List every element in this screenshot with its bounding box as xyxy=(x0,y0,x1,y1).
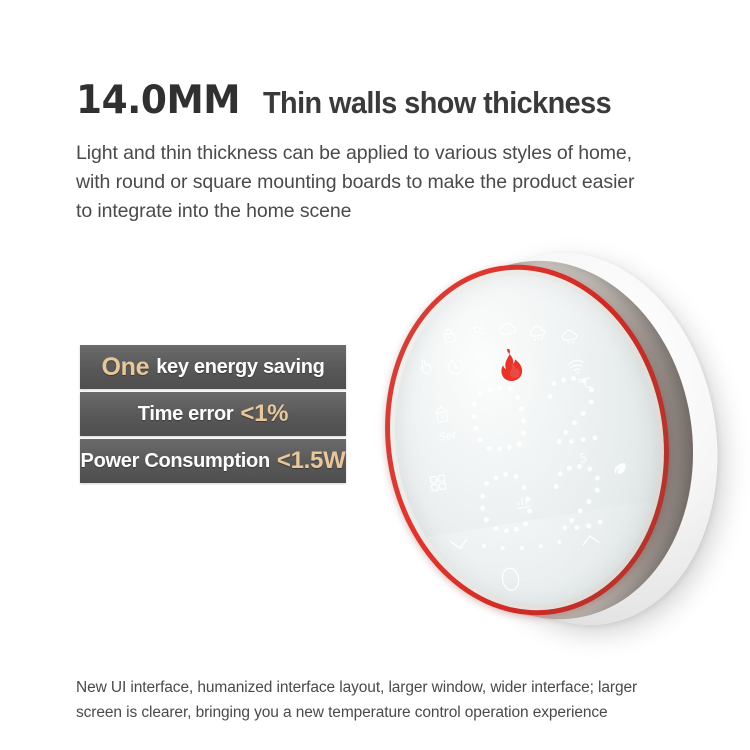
house-icon xyxy=(431,403,452,426)
arc-dot xyxy=(557,540,562,545)
hand-touch-icon xyxy=(417,356,435,376)
badge-accent-text: <1% xyxy=(240,400,288,428)
badge-accent-text: One xyxy=(101,353,149,382)
chevron-down-icon[interactable] xyxy=(449,536,471,552)
header-block: 14.0MM Thin walls show thickness Light a… xyxy=(76,78,676,226)
cloud-rain-icon xyxy=(527,324,548,344)
feature-badge-list: One key energy saving Time error <1% Pow… xyxy=(80,345,346,483)
power-button[interactable] xyxy=(498,565,524,594)
headline-tagline: Thin walls show thickness xyxy=(263,85,611,121)
headline-measure: 14.0MM xyxy=(76,78,240,123)
wifi-icon xyxy=(566,358,587,376)
clock-icon xyxy=(445,357,464,376)
sun-icon xyxy=(467,319,488,340)
cloud-snow-icon xyxy=(559,328,580,348)
temperature-unit: °C xyxy=(575,375,592,393)
headline: 14.0MM Thin walls show thickness xyxy=(76,78,676,123)
bottom-caption: New UI interface, humanized interface la… xyxy=(76,675,676,725)
leaf-eco-icon xyxy=(612,462,629,478)
feature-badge-energy-saving: One key energy saving xyxy=(80,345,346,389)
badge-plain-text: Power Consumption xyxy=(81,450,270,473)
device-glass-face[interactable]: Set xyxy=(372,256,683,625)
feature-badge-power-consumption: Power Consumption <1.5W xyxy=(80,439,346,483)
thermostat-device: Set xyxy=(378,238,724,640)
arc-dot xyxy=(500,546,505,551)
secondary-unit: 5 xyxy=(579,451,589,467)
calendar-grid-icon xyxy=(428,473,447,492)
badge-plain-text: Time error xyxy=(138,403,234,426)
arc-dot xyxy=(482,544,487,549)
arc-dot xyxy=(538,544,543,549)
display-face: Set xyxy=(372,256,683,625)
flame-icon xyxy=(496,346,527,384)
cloud-icon xyxy=(496,320,518,337)
arc-dot xyxy=(520,546,525,551)
header-subcopy: Light and thin thickness can be applied … xyxy=(76,139,646,226)
chart-bars-icon xyxy=(512,492,533,513)
feature-badge-time-error: Time error <1% xyxy=(80,392,346,436)
badge-plain-text: key energy saving xyxy=(156,356,324,379)
set-label: Set xyxy=(438,429,457,444)
lock-icon xyxy=(440,326,457,345)
badge-accent-text: <1.5W xyxy=(277,447,346,475)
chevron-up-icon[interactable] xyxy=(580,532,602,548)
